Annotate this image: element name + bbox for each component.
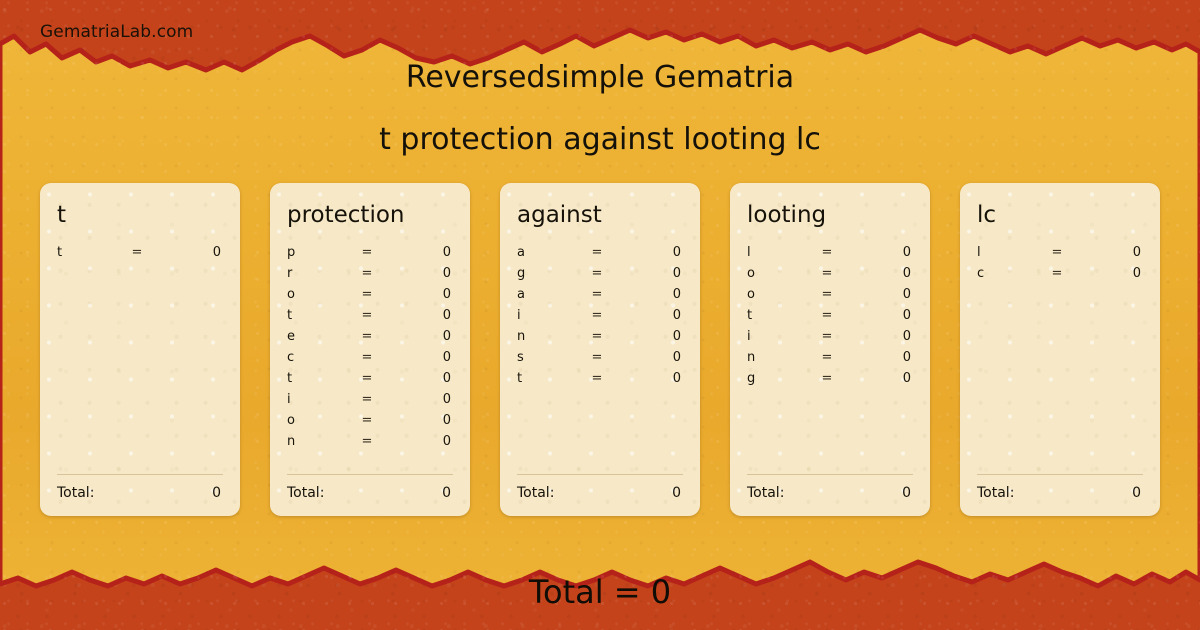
- equals-sign: =: [353, 245, 381, 260]
- letter-row: e=0: [287, 329, 453, 350]
- equals-sign: =: [813, 308, 841, 323]
- letter-row: i=0: [747, 329, 913, 350]
- page-title: Reversedsimple Gematria: [0, 56, 1200, 100]
- gematria-result-canvas: GematriaLab.com Reversedsimple Gematria …: [0, 0, 1200, 630]
- letter-label: t: [287, 371, 353, 386]
- letter-row: i=0: [287, 392, 453, 413]
- word-card-total: Total:0: [747, 474, 913, 516]
- letter-value: 0: [611, 329, 683, 344]
- word-card-total: Total:0: [977, 474, 1143, 516]
- equals-sign: =: [583, 371, 611, 386]
- letter-label: t: [57, 245, 123, 260]
- letter-row: n=0: [287, 434, 453, 455]
- equals-sign: =: [353, 434, 381, 449]
- letter-label: t: [747, 308, 813, 323]
- letter-label: t: [517, 371, 583, 386]
- letter-value: 0: [841, 266, 913, 281]
- letter-label: n: [517, 329, 583, 344]
- letter-row: i=0: [517, 308, 683, 329]
- letter-row: o=0: [747, 287, 913, 308]
- word-card: againsta=0g=0a=0i=0n=0s=0t=0Total:0: [500, 183, 700, 516]
- letter-value: 0: [381, 434, 453, 449]
- letter-row: p=0: [287, 245, 453, 266]
- letter-value: 0: [381, 266, 453, 281]
- equals-sign: =: [813, 350, 841, 365]
- equals-sign: =: [353, 371, 381, 386]
- total-value: 0: [672, 485, 683, 501]
- letter-value: 0: [381, 329, 453, 344]
- word-card-title: lc: [977, 201, 1143, 229]
- letter-row: t=0: [57, 245, 223, 266]
- letter-value: 0: [381, 245, 453, 260]
- letter-label: i: [747, 329, 813, 344]
- equals-sign: =: [813, 287, 841, 302]
- equals-sign: =: [1043, 245, 1071, 260]
- letter-value: 0: [611, 287, 683, 302]
- letter-value: 0: [381, 371, 453, 386]
- letter-rows: a=0g=0a=0i=0n=0s=0t=0: [517, 245, 683, 474]
- letter-value: 0: [381, 350, 453, 365]
- letter-value: 0: [841, 371, 913, 386]
- equals-sign: =: [583, 350, 611, 365]
- word-card-title: against: [517, 201, 683, 229]
- letter-row: l=0: [747, 245, 913, 266]
- letter-row: c=0: [287, 350, 453, 371]
- letter-value: 0: [841, 308, 913, 323]
- letter-row: n=0: [747, 350, 913, 371]
- total-value: 0: [212, 485, 223, 501]
- letter-value: 0: [151, 245, 223, 260]
- equals-sign: =: [353, 308, 381, 323]
- total-value: 0: [902, 485, 913, 501]
- letter-rows: l=0c=0: [977, 245, 1143, 474]
- letter-label: c: [977, 266, 1043, 281]
- word-cards-row: tt=0Total:0protectionp=0r=0o=0t=0e=0c=0t…: [40, 183, 1190, 516]
- page-subtitle-phrase: t protection against looting lc: [0, 118, 1200, 162]
- letter-row: s=0: [517, 350, 683, 371]
- letter-label: c: [287, 350, 353, 365]
- letter-label: a: [517, 245, 583, 260]
- letter-row: t=0: [517, 371, 683, 392]
- letter-row: n=0: [517, 329, 683, 350]
- letter-label: n: [287, 434, 353, 449]
- word-card-title: protection: [287, 201, 453, 229]
- letter-value: 0: [611, 308, 683, 323]
- word-card: tt=0Total:0: [40, 183, 240, 516]
- letter-value: 0: [611, 350, 683, 365]
- grand-total: Total = 0: [0, 572, 1200, 612]
- equals-sign: =: [583, 287, 611, 302]
- letter-label: l: [747, 245, 813, 260]
- letter-label: s: [517, 350, 583, 365]
- letter-label: t: [287, 308, 353, 323]
- letter-row: g=0: [517, 266, 683, 287]
- letter-rows: p=0r=0o=0t=0e=0c=0t=0i=0o=0n=0: [287, 245, 453, 474]
- equals-sign: =: [353, 287, 381, 302]
- letter-value: 0: [611, 266, 683, 281]
- letter-value: 0: [381, 287, 453, 302]
- heading-block: Reversedsimple Gematria t protection aga…: [0, 56, 1200, 162]
- letter-row: o=0: [287, 287, 453, 308]
- letter-label: o: [287, 413, 353, 428]
- equals-sign: =: [813, 329, 841, 344]
- letter-label: o: [747, 287, 813, 302]
- letter-value: 0: [841, 287, 913, 302]
- letter-label: p: [287, 245, 353, 260]
- letter-label: o: [287, 287, 353, 302]
- letter-rows: t=0: [57, 245, 223, 474]
- letter-label: o: [747, 266, 813, 281]
- letter-rows: l=0o=0o=0t=0i=0n=0g=0: [747, 245, 913, 474]
- letter-label: i: [517, 308, 583, 323]
- letter-label: e: [287, 329, 353, 344]
- equals-sign: =: [813, 266, 841, 281]
- letter-row: o=0: [287, 413, 453, 434]
- word-card: protectionp=0r=0o=0t=0e=0c=0t=0i=0o=0n=0…: [270, 183, 470, 516]
- letter-label: r: [287, 266, 353, 281]
- site-logo[interactable]: GematriaLab.com: [40, 22, 193, 42]
- total-label: Total:: [977, 485, 1132, 501]
- letter-value: 0: [1071, 245, 1143, 260]
- letter-value: 0: [381, 308, 453, 323]
- letter-label: a: [517, 287, 583, 302]
- equals-sign: =: [583, 308, 611, 323]
- letter-label: g: [517, 266, 583, 281]
- letter-row: r=0: [287, 266, 453, 287]
- equals-sign: =: [583, 266, 611, 281]
- word-card-total: Total:0: [57, 474, 223, 516]
- equals-sign: =: [813, 371, 841, 386]
- word-card: lootingl=0o=0o=0t=0i=0n=0g=0Total:0: [730, 183, 930, 516]
- letter-label: g: [747, 371, 813, 386]
- equals-sign: =: [353, 350, 381, 365]
- letter-value: 0: [841, 245, 913, 260]
- equals-sign: =: [353, 392, 381, 407]
- letter-label: n: [747, 350, 813, 365]
- letter-row: t=0: [287, 371, 453, 392]
- letter-row: g=0: [747, 371, 913, 392]
- letter-value: 0: [381, 413, 453, 428]
- equals-sign: =: [583, 329, 611, 344]
- equals-sign: =: [813, 245, 841, 260]
- equals-sign: =: [353, 329, 381, 344]
- letter-row: a=0: [517, 245, 683, 266]
- letter-row: c=0: [977, 266, 1143, 287]
- word-card-total: Total:0: [287, 474, 453, 516]
- letter-row: t=0: [747, 308, 913, 329]
- letter-row: a=0: [517, 287, 683, 308]
- letter-value: 0: [1071, 266, 1143, 281]
- equals-sign: =: [353, 266, 381, 281]
- letter-value: 0: [611, 245, 683, 260]
- total-value: 0: [442, 485, 453, 501]
- equals-sign: =: [583, 245, 611, 260]
- total-label: Total:: [57, 485, 212, 501]
- letter-row: o=0: [747, 266, 913, 287]
- letter-label: l: [977, 245, 1043, 260]
- letter-value: 0: [841, 350, 913, 365]
- total-label: Total:: [747, 485, 902, 501]
- letter-value: 0: [841, 329, 913, 344]
- total-value: 0: [1132, 485, 1143, 501]
- word-card-title: looting: [747, 201, 913, 229]
- letter-value: 0: [381, 392, 453, 407]
- letter-label: i: [287, 392, 353, 407]
- word-card-title: t: [57, 201, 223, 229]
- letter-value: 0: [611, 371, 683, 386]
- word-card: lcl=0c=0Total:0: [960, 183, 1160, 516]
- total-label: Total:: [517, 485, 672, 501]
- total-label: Total:: [287, 485, 442, 501]
- word-card-total: Total:0: [517, 474, 683, 516]
- equals-sign: =: [1043, 266, 1071, 281]
- equals-sign: =: [123, 245, 151, 260]
- letter-row: t=0: [287, 308, 453, 329]
- equals-sign: =: [353, 413, 381, 428]
- letter-row: l=0: [977, 245, 1143, 266]
